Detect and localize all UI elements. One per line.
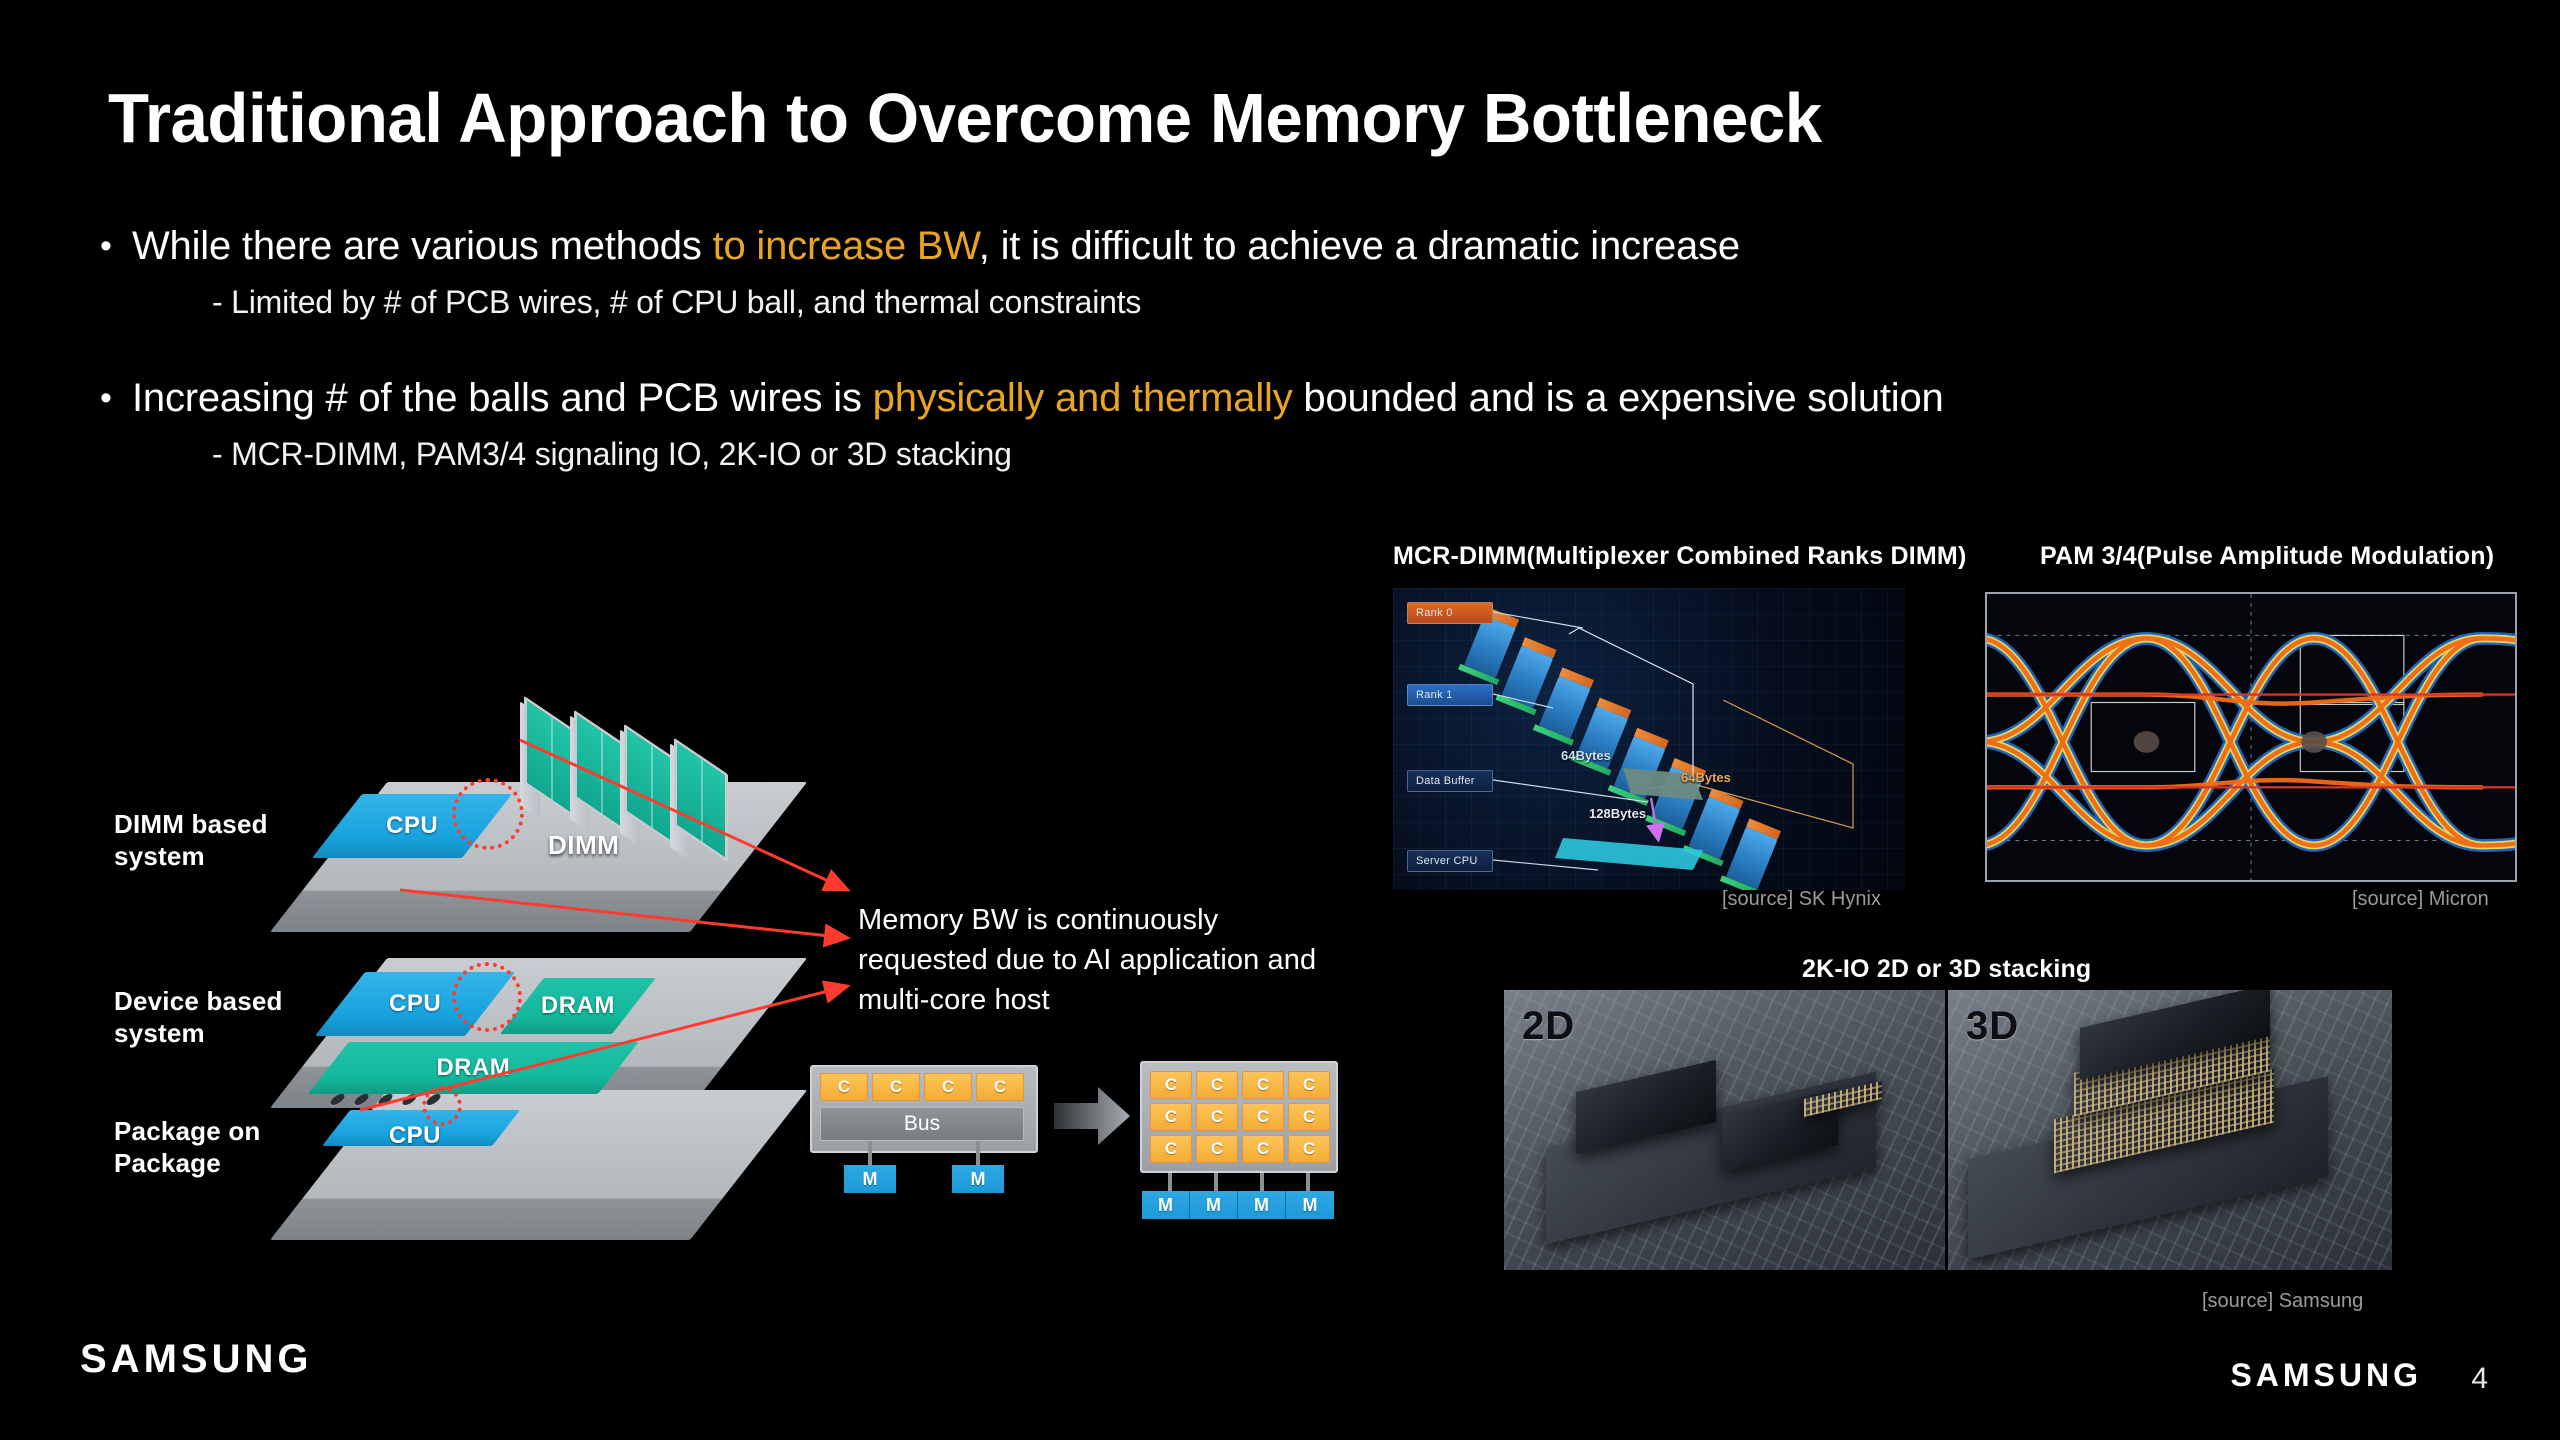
system-label-line1: Package on	[114, 1115, 261, 1147]
system-label-line1: DIMM based	[114, 808, 268, 840]
core-cell: C	[1242, 1103, 1284, 1131]
bus-lead	[868, 1141, 872, 1165]
system-label-line2: system	[114, 1017, 283, 1049]
core-scaling-diagram: C C C C Bus M M C C C C C C C C C C	[810, 1065, 1330, 1245]
core-cell: C	[1196, 1135, 1238, 1163]
bullet-1-pre: While there are various methods	[132, 224, 713, 268]
system-label-line1: Device based	[114, 985, 283, 1017]
stacking-panel-caption: 2K-IO 2D or 3D stacking	[1802, 955, 2091, 984]
core-cell: C	[1150, 1103, 1192, 1131]
pam-eye-diagram	[1985, 592, 2517, 882]
core-cell: C	[976, 1073, 1024, 1101]
system-label-pop: Package on Package	[114, 1115, 261, 1179]
mcr-connector-lines	[1393, 588, 1905, 890]
page-title: Traditional Approach to Overcome Memory …	[108, 78, 1822, 158]
bus-bar: Bus	[820, 1107, 1024, 1141]
mesh-lead	[1168, 1173, 1172, 1191]
mcr-tag-data-buffer: Data Buffer	[1407, 770, 1493, 792]
solder-ball	[352, 1094, 372, 1105]
bullet-item-1: • While there are various methods to inc…	[80, 218, 2500, 274]
bus-lead	[976, 1141, 980, 1165]
bullet-marker: •	[80, 370, 132, 426]
callout-body: Memory BW is continuously requested due …	[858, 904, 1316, 1016]
stacking-2d-panel: 2D	[1504, 990, 1948, 1270]
core-cell: C	[1242, 1071, 1284, 1099]
mcr-byte-label-1: 64Bytes	[1561, 748, 1611, 763]
cpu-chip-label: CPU	[386, 812, 438, 840]
memory-cell: M	[1286, 1191, 1334, 1219]
slide-canvas: Traditional Approach to Overcome Memory …	[0, 0, 2560, 1440]
dram-chip-pop-system: DRAM	[308, 1042, 639, 1094]
mcr-tag-server-cpu: Server CPU	[1407, 850, 1493, 872]
memory-cell: M	[1238, 1191, 1286, 1219]
bullet-2-post: bounded and is a expensive solution	[1293, 376, 1944, 420]
stacking-2d-tag: 2D	[1522, 1004, 1575, 1049]
core-cell: C	[1196, 1103, 1238, 1131]
core-cell: C	[1288, 1103, 1330, 1131]
cpu-chip-label: CPU	[389, 990, 441, 1018]
memory-cell: M	[1142, 1191, 1190, 1219]
bullet-text-2: Increasing # of the balls and PCB wires …	[132, 370, 1944, 426]
memory-cell: M	[952, 1165, 1004, 1193]
pam-source-attribution: [source] Micron	[2352, 888, 2489, 911]
system-label-line2: Package	[114, 1147, 261, 1179]
dimm-label: DIMM	[548, 830, 619, 861]
mcr-tag-rank1: Rank 1	[1407, 684, 1493, 706]
cpu-chip-pop-system: CPU	[322, 1110, 520, 1146]
system-label-device: Device based system	[114, 985, 283, 1049]
sub-bullet-2: - MCR-DIMM, PAM3/4 signaling IO, 2K-IO o…	[212, 432, 2500, 476]
bullet-item-2: • Increasing # of the balls and PCB wire…	[80, 370, 2500, 426]
bullet-1-highlight: to increase BW	[713, 224, 979, 268]
stacking-source-attribution: [source] Samsung	[2202, 1290, 2363, 1313]
core-cell: C	[1288, 1071, 1330, 1099]
mesh-lead	[1214, 1173, 1218, 1191]
eye-diagram-traces	[1987, 594, 2515, 880]
mcr-byte-label-3: 128Bytes	[1589, 806, 1646, 821]
mesh-lead	[1306, 1173, 1310, 1191]
mcr-source-attribution: [source] SK Hynix	[1722, 888, 1881, 911]
bottleneck-highlight-circle	[452, 778, 524, 850]
system-label-dimm: DIMM based system	[114, 808, 268, 872]
core-cell: C	[872, 1073, 920, 1101]
samsung-logo-left: SAMSUNG	[80, 1337, 312, 1382]
cpu-chip-label: CPU	[389, 1122, 441, 1150]
samsung-logo-right: SAMSUNG	[2230, 1357, 2422, 1394]
bullet-1-post: , it is difficult to achieve a dramatic …	[979, 224, 1740, 268]
bottleneck-highlight-circle	[452, 962, 522, 1032]
system-label-line2: system	[114, 840, 268, 872]
callout-text: Memory BW is continuously requested due …	[858, 900, 1328, 1020]
transition-arrow-icon	[1054, 1085, 1130, 1147]
mcr-byte-label-2: 64Bytes	[1681, 770, 1731, 785]
mesh-lead	[1260, 1173, 1264, 1191]
core-cell: C	[1288, 1135, 1330, 1163]
memory-cell: M	[844, 1165, 896, 1193]
bullet-marker: •	[80, 218, 132, 274]
mcr-dimm-illustration: Rank 0 Rank 1 Data Buffer Server CPU 64B…	[1393, 588, 1905, 890]
mcr-tag-rank0: Rank 0	[1407, 602, 1493, 624]
bullet-2-pre: Increasing # of the balls and PCB wires …	[132, 376, 873, 420]
core-cell: C	[1196, 1071, 1238, 1099]
stacking-photo: 2D 3D	[1504, 990, 2392, 1270]
mcr-panel-caption: MCR-DIMM(Multiplexer Combined Ranks DIMM…	[1393, 542, 1966, 571]
page-number: 4	[2471, 1362, 2488, 1396]
bullet-list: • While there are various methods to inc…	[80, 218, 2500, 496]
core-cell: C	[820, 1073, 868, 1101]
sub-bullet-1: - Limited by # of PCB wires, # of CPU ba…	[212, 280, 2500, 324]
bullet-text-1: While there are various methods to incre…	[132, 218, 1740, 274]
core-cell: C	[1242, 1135, 1284, 1163]
core-cell: C	[924, 1073, 972, 1101]
bullet-2-highlight: physically and thermally	[873, 376, 1293, 420]
dram-chip-label: DRAM	[541, 992, 615, 1020]
stacking-3d-panel: 3D	[1948, 990, 2392, 1270]
memory-cell: M	[1190, 1191, 1238, 1219]
bullet-spacer	[80, 344, 2500, 370]
pam-panel-caption: PAM 3/4(Pulse Amplitude Modulation)	[2040, 542, 2494, 571]
dram-chip-label: DRAM	[436, 1054, 510, 1082]
core-cell: C	[1150, 1071, 1192, 1099]
stacking-3d-tag: 3D	[1966, 1004, 2019, 1049]
core-cell: C	[1150, 1135, 1192, 1163]
